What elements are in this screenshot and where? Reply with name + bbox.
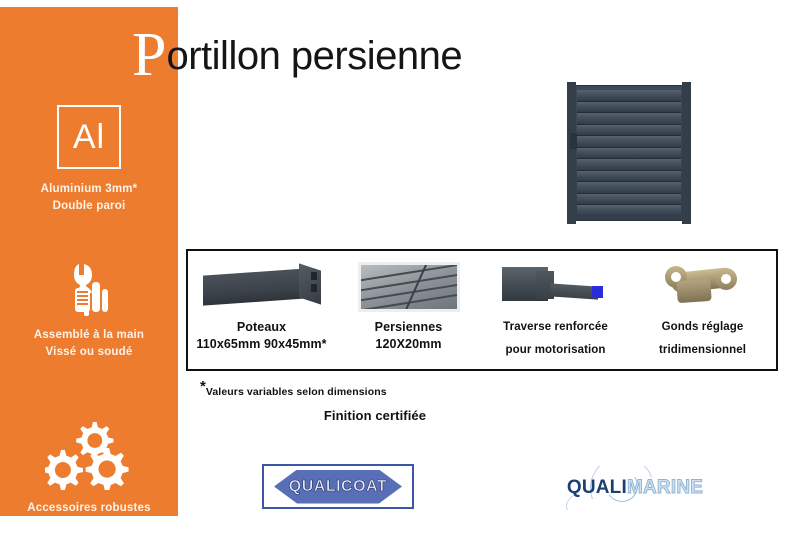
qualimarine-logo: QUALIMARINE [556,466,714,510]
qualimarine-text-part2: MARINE [627,477,703,498]
finition-label: Finition certifiée [324,408,426,423]
product-label-gonds: Gonds réglage [662,319,744,336]
feature-aluminium: Al Aluminium 3mm* Double paroi [0,105,178,215]
finition-heading: Finition certifiée [0,408,800,423]
product-sub-traverse: pour motorisation [505,342,605,359]
aluminium-badge-label: Al [73,120,105,154]
hand-wrench-icon [0,260,178,318]
gears-icon [0,419,178,491]
page-title-rest: ortillon persienne [166,34,462,78]
product-label-poteaux: Poteaux [237,319,286,336]
post-profile-photo [203,261,321,313]
qualimarine-logo-text: QUALIMARINE [567,477,703,499]
feature-aluminium-line1: Aluminium 3mm* [0,181,178,198]
slide-page: Al Aluminium 3mm* Double paroi [0,0,800,534]
footnote-text: Valeurs variables selon dimensions [206,386,387,398]
gate-post-left [567,82,576,224]
gate-post-right [682,82,691,224]
product-cell-gonds: Gonds réglage tridimensionnel [629,251,776,369]
feature-assembly: Assemblé à la main Vissé ou soudé [0,260,178,361]
product-label-traverse: Traverse renforcée [503,319,608,336]
gate-slats [577,90,681,216]
three-dimensional-hinge-photo [659,261,747,313]
qualicoat-logo: QUALICOAT [262,464,414,509]
product-cell-persiennes: Persiennes 120X20mm [335,251,482,369]
reinforced-crossbar-photo [500,261,612,313]
feature-accessories: Accessoires robustes [0,419,178,517]
product-sub-poteaux: 110x65mm 90x45mm* [196,336,326,353]
footnote: *Valeurs variables selon dimensions [200,378,387,400]
product-sub-persiennes: 120X20mm [375,336,441,353]
feature-aluminium-line2: Double paroi [0,198,178,215]
qualicoat-logo-text: QUALICOAT [289,478,387,496]
aluminium-square-icon: Al [57,105,121,169]
product-spec-strip: Poteaux 110x65mm 90x45mm* Persiennes 120… [186,249,778,371]
gate-handle-icon [570,133,577,149]
feature-assembly-line1: Assemblé à la main [0,327,178,344]
page-title: Portillon persienne [132,24,462,86]
feature-assembly-line2: Vissé ou soudé [0,344,178,361]
louver-slats-photo [358,261,460,313]
page-title-initial: P [132,21,166,89]
product-cell-poteaux: Poteaux 110x65mm 90x45mm* [188,251,335,369]
gate-louvered-photo [567,85,691,221]
product-cell-traverse: Traverse renforcée pour motorisation [482,251,629,369]
product-label-persiennes: Persiennes [375,319,443,336]
product-sub-gonds: tridimensionnel [659,342,746,359]
qualimarine-text-part1: QUALI [567,477,627,498]
feature-accessories-line1: Accessoires robustes [0,500,178,517]
